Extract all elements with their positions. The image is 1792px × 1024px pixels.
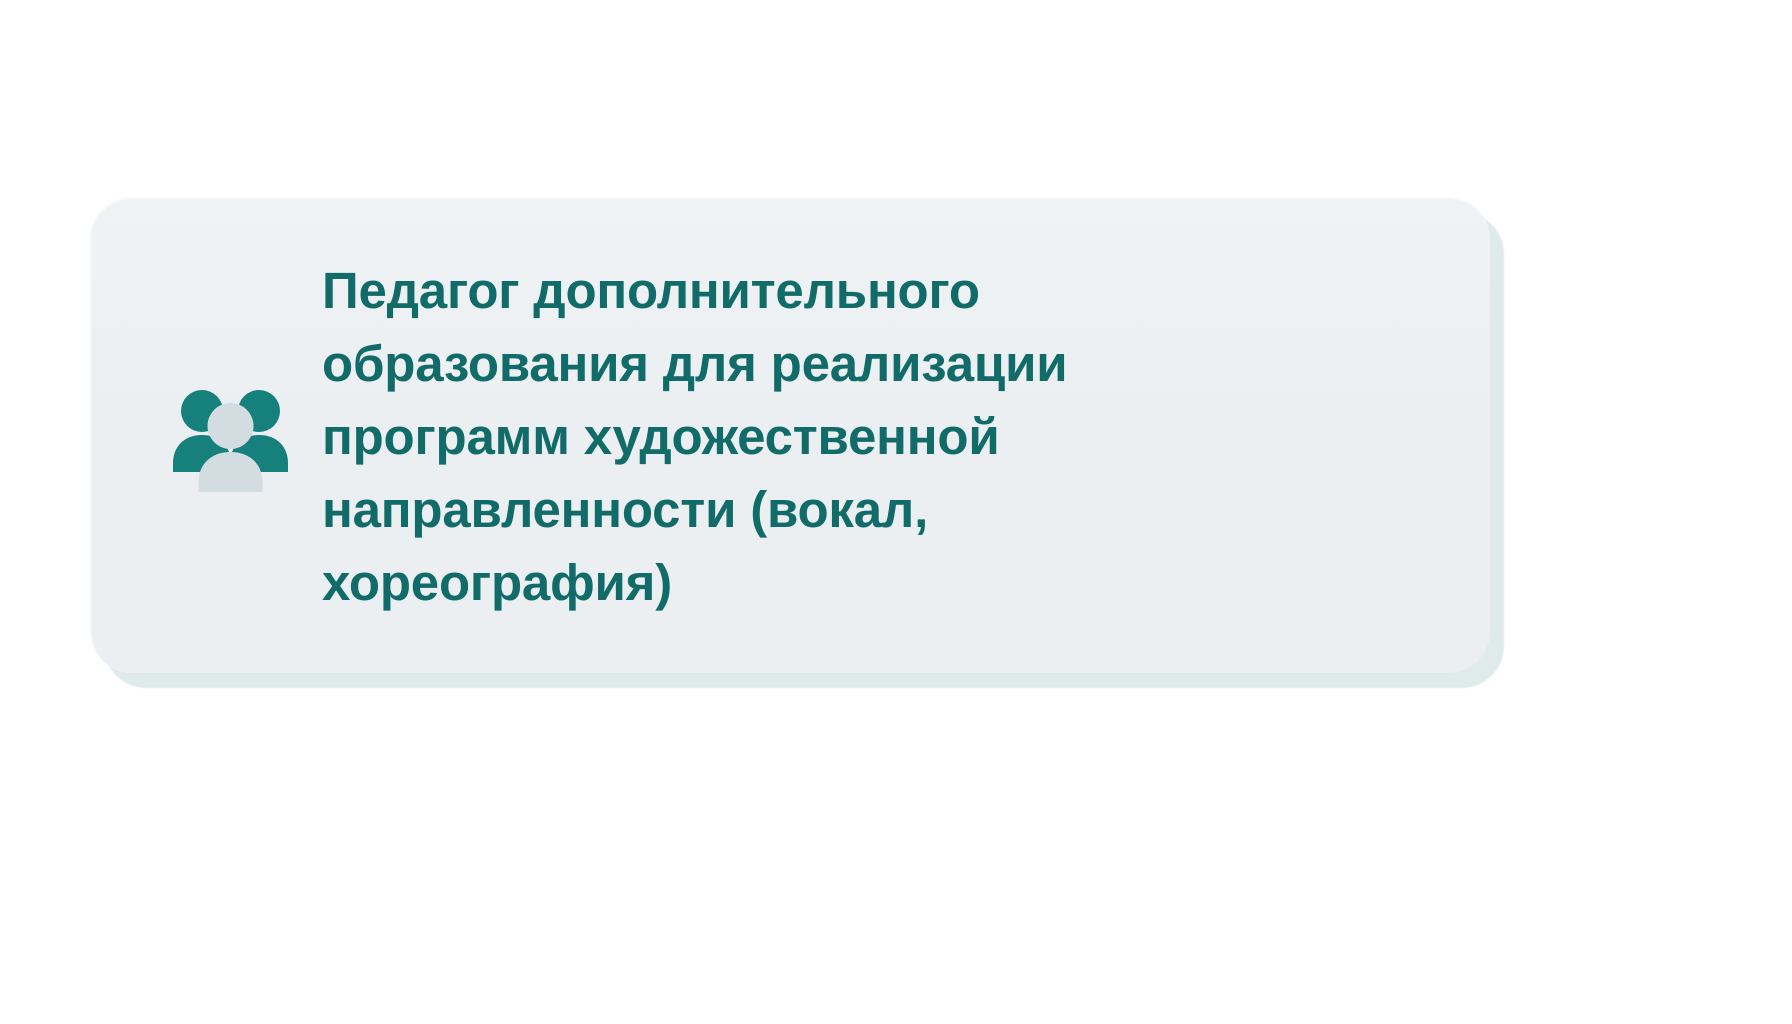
- page-canvas: Педагог дополнительного образования для …: [0, 0, 1792, 1024]
- page-title: Педагог дополнительного образования для …: [322, 254, 1430, 619]
- card-content: Педагог дополнительного образования для …: [92, 254, 1490, 619]
- group-of-people-icon: [164, 370, 296, 502]
- job-position-card[interactable]: Педагог дополнительного образования для …: [90, 197, 1490, 673]
